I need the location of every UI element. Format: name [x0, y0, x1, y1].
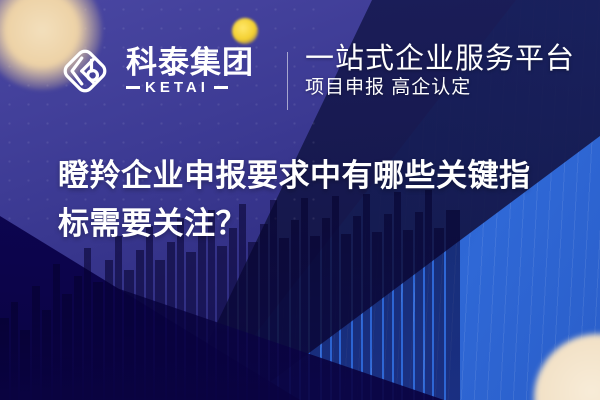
vertical-divider — [287, 52, 288, 110]
headline-text: 瞪羚企业申报要求中有哪些关键指标需要关注？ — [58, 152, 558, 248]
rule-left-icon — [126, 86, 140, 89]
promo-banner: 科泰集团 KETAI 一站式企业服务平台 项目申报 高企认定 瞪羚企业申报要求中… — [0, 0, 600, 400]
slogan-sub: 项目申报 高企认定 — [305, 78, 575, 99]
wordmark: 科泰集团 KETAI — [126, 47, 254, 95]
ketai-diamond-monogram-icon — [58, 44, 112, 98]
slogan-main: 一站式企业服务平台 — [305, 44, 575, 74]
slogan-block: 一站式企业服务平台 项目申报 高企认定 — [305, 44, 575, 99]
brand-lockup: 科泰集团 KETAI — [58, 44, 254, 98]
rule-right-icon — [214, 86, 228, 89]
brand-name-en-row: KETAI — [126, 80, 254, 95]
brand-name-cn: 科泰集团 — [126, 47, 254, 78]
brand-name-en: KETAI — [145, 80, 209, 95]
